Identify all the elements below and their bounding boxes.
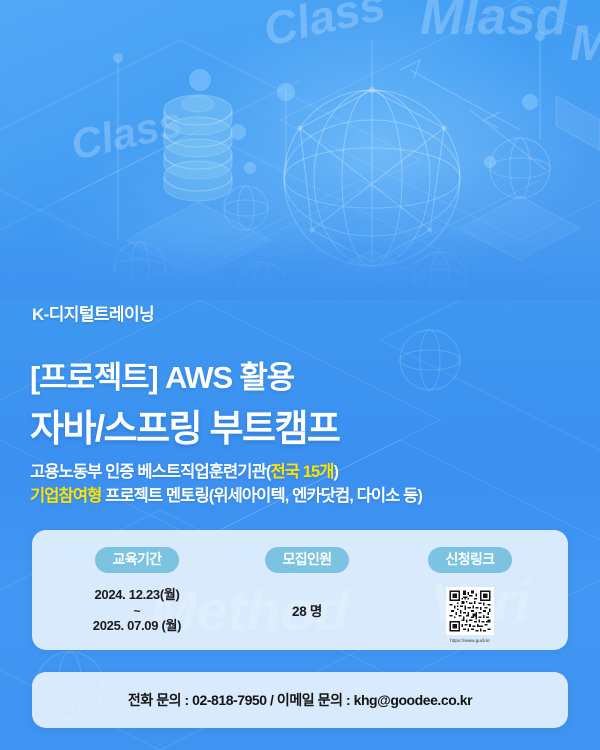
page-title-line-2: 자바/스프링 부트캠프 (30, 398, 339, 452)
subtitle-2-after: 프로젝트 멘토링(위세아이텍, 엔카닷컴, 다이소 등) (101, 487, 422, 505)
period-end-date: 2025. 07.09 (월) (42, 617, 232, 635)
poster: Class Mlasd Class M (0, 0, 600, 750)
page-title-line-1: [프로젝트] AWS 활용 (30, 352, 294, 397)
subtitle-line-1: 고용노동부 인증 베스트직업훈련기관(전국 15개) (30, 458, 338, 482)
qr-code-wrapper[interactable]: https://www.gudi.kr (382, 587, 558, 644)
period-start-date: 2024. 12.23(월) (42, 586, 232, 604)
info-column-quota: 모집인원 28 명 (232, 530, 382, 650)
subtitle-line-2: 기업참여형 프로젝트 멘토링(위세아이텍, 엔카닷컴, 다이소 등) (30, 482, 422, 506)
application-link-url[interactable]: https://www.gudi.kr (386, 639, 553, 645)
badge-recruitment-quota: 모집인원 (265, 547, 348, 573)
period-separator: ~ (42, 605, 232, 617)
subtitle-2-highlight: 기업참여형 (30, 487, 101, 505)
badge-application-link: 신청링크 (428, 547, 511, 573)
contact-info-text: 전화 문의 : 02-818-7950 / 이메일 문의 : khg@goode… (128, 690, 472, 710)
qr-code-icon[interactable] (446, 587, 494, 635)
training-period-value: 2024. 12.23(월) ~ 2025. 07.09 (월) (42, 586, 232, 635)
poster-content: K-디지털트레이닝 [프로젝트] AWS 활용 자바/스프링 부트캠프 고용노동… (0, 0, 600, 750)
subtitle-1-after: ) (334, 463, 339, 481)
info-column-application-link: 신청링크 (382, 530, 558, 650)
badge-training-period: 교육기간 (95, 547, 178, 573)
subtitle-1-before: 고용노동부 인증 베스트직업훈련기관( (30, 463, 270, 481)
recruitment-quota-value: 28 명 (232, 600, 382, 620)
info-card: 교육기간 2024. 12.23(월) ~ 2025. 07.09 (월) 모집… (32, 530, 568, 650)
contact-card: 전화 문의 : 02-818-7950 / 이메일 문의 : khg@goode… (32, 672, 568, 728)
info-column-period: 교육기간 2024. 12.23(월) ~ 2025. 07.09 (월) (42, 530, 232, 650)
subtitle-1-highlight: 전국 15개 (270, 463, 333, 481)
program-eyebrow-label: K-디지털트레이닝 (32, 300, 154, 325)
